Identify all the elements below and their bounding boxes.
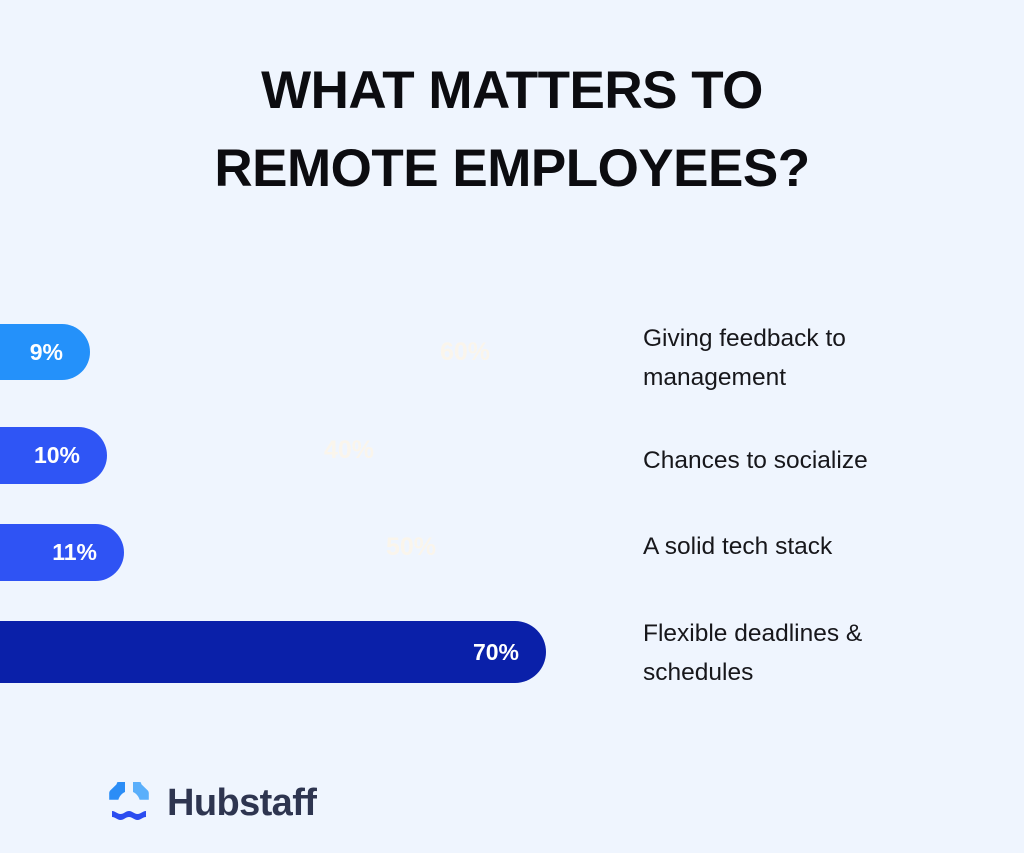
hubstaff-logo-icon (104, 779, 154, 827)
hubstaff-logo: Hubstaff (104, 779, 316, 827)
bar-value-label: 10% (34, 442, 107, 469)
ghost-percent-label-3: 50% (386, 533, 436, 562)
bar-value-label: 70% (473, 639, 546, 666)
bar-category-line-1: Flexible deadlines & (643, 614, 973, 653)
bar-category-line-1: A solid tech stack (643, 527, 973, 566)
bar-chart: 60% 40% 50% 9% Giving feedback to manage… (0, 300, 1024, 710)
infographic-canvas: WHAT MATTERS TO REMOTE EMPLOYEES? 60% 40… (0, 0, 1024, 853)
ghost-percent-label-2: 40% (324, 436, 374, 465)
bar-category-line-2: management (643, 358, 973, 397)
bar-chances-to-socialize[interactable]: 10% (0, 427, 107, 484)
bar-category-line-2: schedules (643, 653, 973, 692)
page-title: WHAT MATTERS TO REMOTE EMPLOYEES? (0, 52, 1024, 208)
bar-category-label: A solid tech stack (643, 527, 973, 566)
bar-value-label: 9% (30, 339, 90, 366)
bar-flexible-deadlines-and-schedules[interactable]: 70% (0, 621, 546, 683)
title-line-1: WHAT MATTERS TO (0, 52, 1024, 130)
bar-category-label: Giving feedback to management (643, 319, 973, 397)
bar-category-label: Flexible deadlines & schedules (643, 614, 973, 692)
title-line-2: REMOTE EMPLOYEES? (0, 130, 1024, 208)
bar-category-line-1: Chances to socialize (643, 441, 973, 480)
hubstaff-wordmark: Hubstaff (167, 784, 316, 822)
bar-a-solid-tech-stack[interactable]: 11% (0, 524, 124, 581)
bar-giving-feedback-to-management[interactable]: 9% (0, 324, 90, 380)
ghost-percent-label-1: 60% (440, 338, 490, 367)
bar-value-label: 11% (52, 539, 124, 566)
bar-category-label: Chances to socialize (643, 441, 973, 480)
bar-category-line-1: Giving feedback to (643, 319, 973, 358)
